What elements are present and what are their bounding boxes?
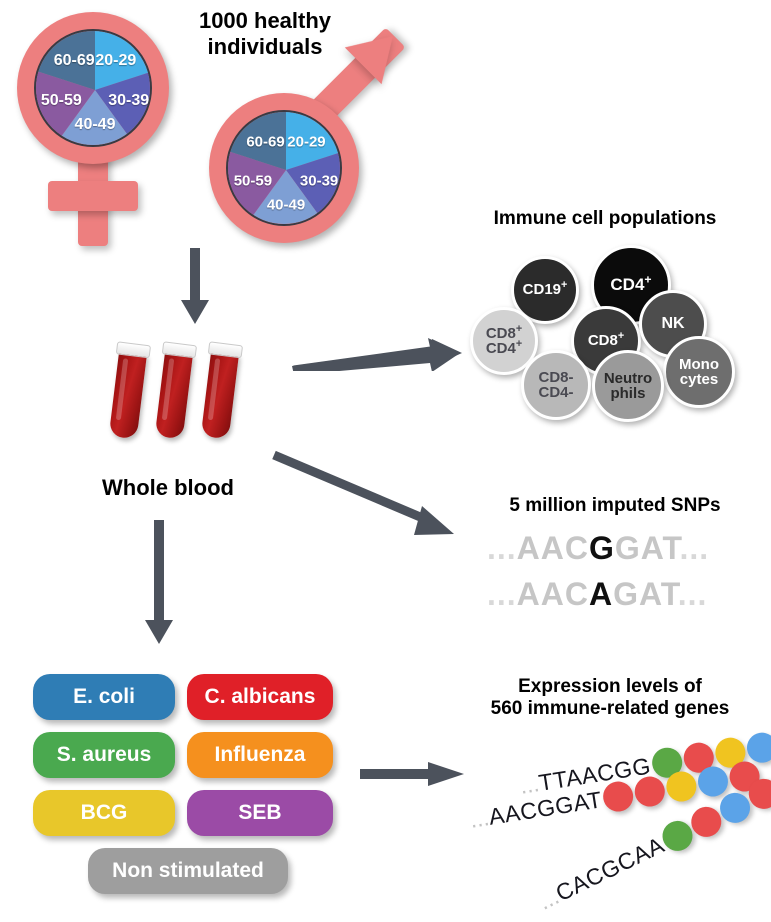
- snp-prefix-dots: ...: [487, 530, 517, 566]
- stimulus-label: E. coli: [73, 685, 135, 709]
- snp-pre: AAC: [517, 576, 589, 612]
- stimulus-label: BCG: [81, 801, 128, 825]
- snp-row: ...AACAGAT...: [487, 576, 707, 613]
- strand-bead: [650, 746, 684, 780]
- arrow-down-to-stimuli: [142, 520, 176, 646]
- page-title-line2: individuals: [170, 34, 360, 60]
- tube-body: [155, 351, 193, 440]
- expression-strand: ...TTAACGG: [518, 725, 771, 800]
- blood-tube: [154, 342, 200, 445]
- stimulus-seb[interactable]: SEB: [187, 790, 333, 836]
- stimulus-non-stimulated[interactable]: Non stimulated: [88, 848, 288, 894]
- strand-bead: [633, 774, 667, 808]
- strand-bead: [665, 769, 699, 803]
- immune-cell-label: CD19+: [523, 282, 568, 297]
- snp-sequences: ...AACGGAT......AACAGAT...: [487, 530, 757, 620]
- arrow-to-expression: [360, 758, 470, 794]
- stimulus-bcg[interactable]: BCG: [33, 790, 175, 836]
- whole-blood-label: Whole blood: [78, 475, 258, 501]
- immune-cell-label: CD8+: [588, 333, 624, 348]
- age-label-30-39: 30-39: [108, 92, 149, 110]
- arrow-to-snps: [272, 450, 462, 545]
- arrow-down-to-blood: [178, 248, 212, 326]
- tube-body: [201, 351, 239, 440]
- expression-strand: ...CACGCAA: [533, 760, 771, 917]
- strand-bead: [745, 730, 771, 764]
- age-label-50-59: 50-59: [234, 172, 272, 189]
- arrow-to-immune-cells: [292, 325, 462, 371]
- age-label-60-69: 60-69: [54, 52, 95, 70]
- immune-cell-neutrophils[interactable]: Neutrophils: [592, 350, 664, 422]
- immune-cell-cd8-cd4[interactable]: CD8-CD4-: [521, 350, 591, 420]
- age-label-40-49: 40-49: [75, 116, 116, 134]
- immune-cell-label: Neutrophils: [604, 371, 652, 402]
- strand-bead: [658, 816, 698, 856]
- blood-tube: [200, 342, 246, 445]
- strand-dots: ...: [468, 804, 491, 834]
- strand-sequence: TTAACGG: [537, 752, 653, 796]
- stimulus-e-coli[interactable]: E. coli: [33, 674, 175, 720]
- age-label-60-69: 60-69: [246, 133, 284, 150]
- stimulus-label: S. aureus: [57, 743, 152, 767]
- page-title: 1000 healthy individuals: [170, 8, 360, 60]
- strand-sequence: AACGGAT: [487, 786, 604, 831]
- strand-bead: [696, 764, 730, 798]
- tube-body: [109, 351, 147, 440]
- stimulus-influenza[interactable]: Influenza: [187, 732, 333, 778]
- snp-post: GAT: [615, 530, 680, 566]
- expression-title: Expression levels of 560 immune-related …: [455, 676, 765, 721]
- blood-tube: [108, 342, 154, 445]
- strand-bead: [744, 774, 771, 814]
- immune-title: Immune cell populations: [455, 208, 755, 230]
- age-label-20-29: 20-29: [287, 133, 325, 150]
- male-age-pie: 20-2930-3940-4950-5960-69: [226, 110, 342, 226]
- stimulus-c-albicans[interactable]: C. albicans: [187, 674, 333, 720]
- immune-cell-label: NK: [661, 316, 684, 332]
- immune-cell-label: CD8-CD4-: [538, 370, 573, 401]
- female-age-pie: 20-2930-3940-4950-5960-69: [34, 29, 152, 147]
- immune-cell-label: Monocytes: [679, 357, 719, 388]
- strand-dots: ...: [518, 770, 541, 800]
- snp-suffix-dots: ...: [678, 576, 708, 612]
- stimulus-label: Non stimulated: [112, 859, 264, 883]
- snp-prefix-dots: ...: [487, 576, 517, 612]
- strand-sequence: CACGCAA: [551, 831, 668, 907]
- immune-cell-label: CD8+CD4+: [486, 326, 522, 357]
- age-label-50-59: 50-59: [41, 92, 82, 110]
- snp-suffix-dots: ...: [680, 530, 710, 566]
- stimulus-label: C. albicans: [205, 685, 316, 709]
- expression-title-line1: Expression levels of: [455, 676, 765, 698]
- stimulus-s-aureus[interactable]: S. aureus: [33, 732, 175, 778]
- snp-variant-base: G: [589, 530, 615, 566]
- strand-bead: [728, 759, 762, 793]
- age-label-30-39: 30-39: [300, 172, 338, 189]
- snps-title: 5 million imputed SNPs: [470, 495, 760, 517]
- snp-variant-base: A: [589, 576, 613, 612]
- expression-title-line2: 560 immune-related genes: [455, 698, 765, 720]
- expression-strand: ...AACGGAT: [468, 759, 763, 835]
- strand-bead: [687, 802, 727, 842]
- snp-row: ...AACGGAT...: [487, 530, 709, 567]
- snp-post: GAT: [613, 576, 678, 612]
- female-crossbar: [48, 181, 138, 211]
- stimulus-label: SEB: [238, 801, 281, 825]
- immune-cell-monocytes[interactable]: Monocytes: [663, 336, 735, 408]
- stimulus-label: Influenza: [214, 743, 305, 767]
- strand-bead: [713, 735, 747, 769]
- strand-bead: [682, 741, 716, 775]
- age-label-20-29: 20-29: [95, 52, 136, 70]
- age-label-40-49: 40-49: [267, 196, 305, 213]
- snp-pre: AAC: [517, 530, 589, 566]
- page-title-line1: 1000 healthy: [170, 8, 360, 34]
- strand-dots: ...: [534, 882, 563, 915]
- strand-bead: [601, 779, 635, 813]
- strand-bead: [715, 788, 755, 828]
- immune-cell-label: CD4+: [610, 276, 651, 293]
